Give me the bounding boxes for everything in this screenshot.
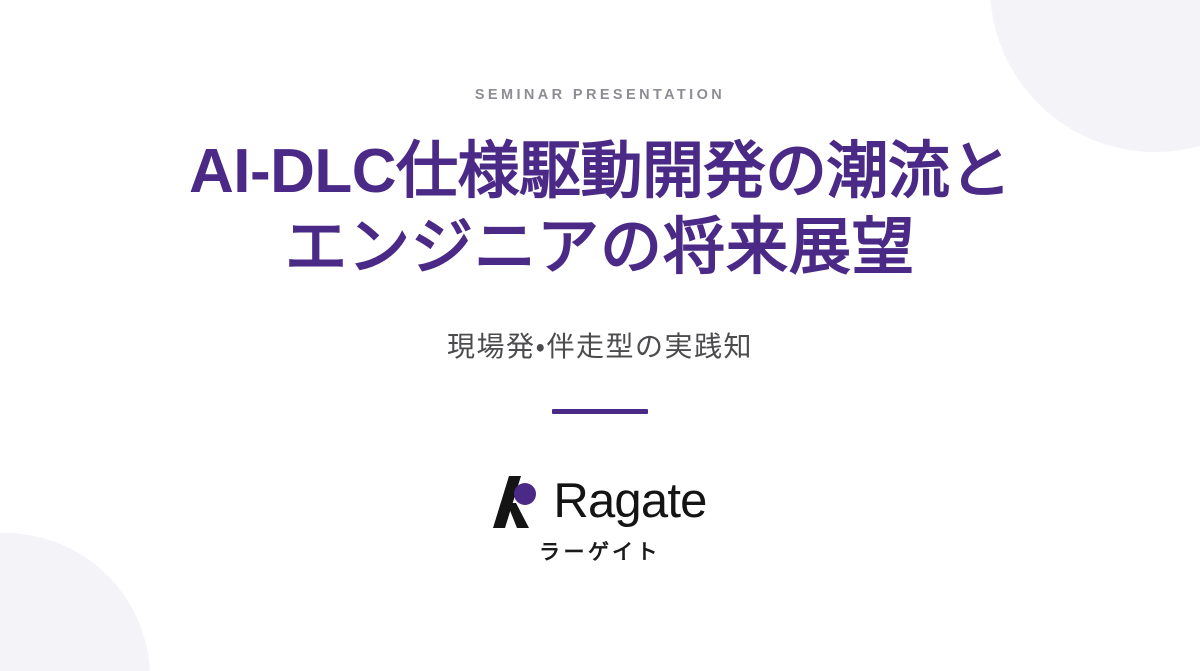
eyebrow-label: SEMINAR PRESENTATION	[475, 88, 725, 103]
ragate-mark-icon	[493, 476, 539, 528]
logo-company-name-jp: ラーゲイト	[539, 542, 661, 563]
logo-wordmark: Ragate	[553, 477, 706, 526]
title-slide: SEMINAR PRESENTATION AI-DLC仕様駆動開発の潮流と エン…	[0, 0, 1200, 671]
page-title: AI-DLC仕様駆動開発の潮流と エンジニアの将来展望	[189, 103, 1011, 288]
title-line-2: エンジニアの将来展望	[189, 210, 1011, 287]
slide-content: SEMINAR PRESENTATION AI-DLC仕様駆動開発の潮流と エン…	[0, 0, 1200, 671]
title-line-1: AI-DLC仕様駆動開発の潮流と	[189, 134, 1011, 211]
subtitle: 現場発・伴走型の実践知	[447, 287, 753, 365]
logo-row: Ragate	[493, 476, 706, 528]
accent-divider	[552, 409, 648, 414]
logo-lockup: Ragate ラーゲイト	[493, 476, 706, 563]
